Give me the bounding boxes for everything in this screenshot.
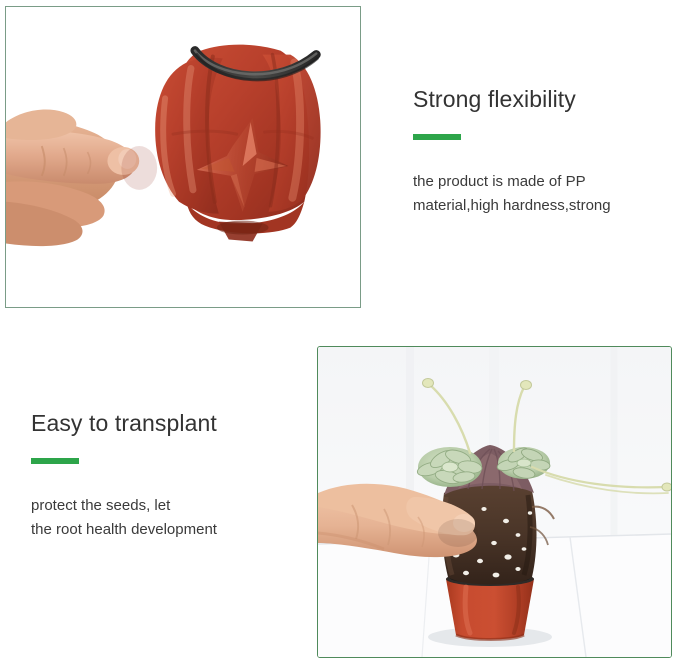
flexibility-photo-panel [5, 6, 361, 308]
feature-block-strong-flexibility: Strong flexibility the product is made o… [413, 86, 671, 218]
feature-body-easy-to-transplant: protect the seeds, let the root health d… [31, 464, 311, 543]
feature-body-strong-flexibility: the product is made of PP material,high … [413, 140, 671, 219]
product-feature-collage: Strong flexibility the product is made o… [0, 0, 679, 663]
feature-block-easy-to-transplant: Easy to transplant protect the seeds, le… [31, 410, 311, 542]
feature-body-line: protect the seeds, let [31, 494, 311, 518]
feature-body-line: the root health development [31, 518, 311, 542]
transplant-photo-panel [317, 346, 672, 658]
feature-body-line: the product is made of PP [413, 170, 671, 194]
transplant-photo [318, 347, 671, 657]
feature-title-easy-to-transplant: Easy to transplant [31, 410, 311, 438]
feature-body-line: material,high hardness,strong [413, 194, 671, 218]
feature-title-strong-flexibility: Strong flexibility [413, 86, 671, 114]
flexibility-photo [6, 7, 360, 307]
